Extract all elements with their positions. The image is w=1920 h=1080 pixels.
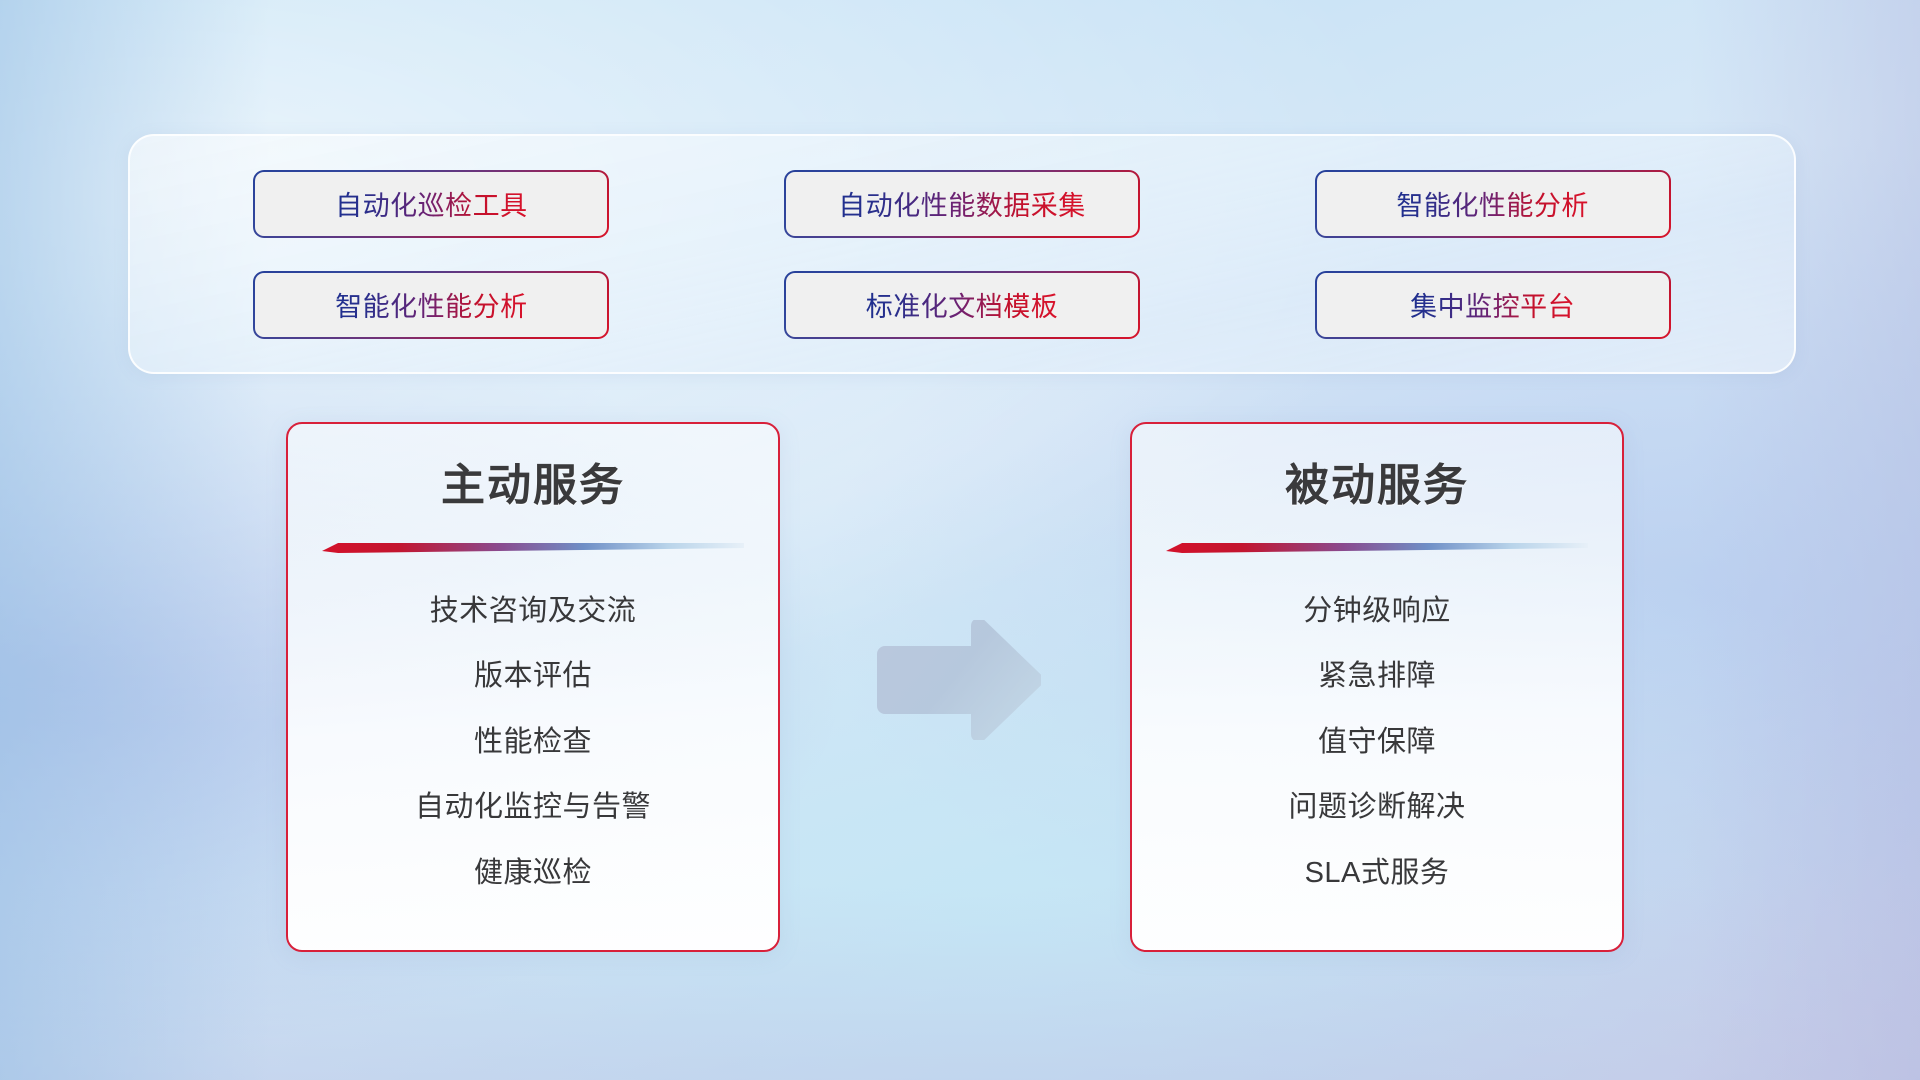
chip-cell: 自动化性能数据采集 (731, 164, 1194, 243)
card-item: 分钟级响应 (1303, 587, 1451, 629)
card-title-divider (322, 539, 744, 555)
capability-chip-4[interactable]: 智能化性能分析 (253, 271, 609, 339)
card-item: 值守保障 (1318, 718, 1436, 760)
chip-inner: 智能化性能分析 (255, 273, 607, 337)
capability-chip-6[interactable]: 集中监控平台 (1315, 271, 1671, 339)
capability-chip-2[interactable]: 自动化性能数据采集 (784, 170, 1140, 238)
service-card-passive[interactable]: 被动服务 分钟级响应 紧急排障 值守保障 (1130, 422, 1624, 952)
capabilities-chip-grid: 自动化巡检工具 自动化性能数据采集 智能化性能分析 (130, 136, 1794, 372)
chip-inner: 自动化巡检工具 (255, 172, 607, 236)
card-title: 主动服务 (322, 458, 744, 513)
chip-inner: 标准化文档模板 (786, 273, 1138, 337)
service-card-active[interactable]: 主动服务 技术咨询及交流 版本评估 性能检查 (286, 422, 780, 952)
right-arrow-icon (869, 620, 1041, 740)
card-item: 版本评估 (474, 652, 592, 694)
chip-cell: 自动化巡检工具 (200, 164, 663, 243)
capability-chip-label: 自动化巡检工具 (335, 184, 528, 223)
chip-inner: 集中监控平台 (1317, 273, 1669, 337)
card-item: 自动化监控与告警 (415, 783, 651, 825)
capability-chip-5[interactable]: 标准化文档模板 (784, 271, 1140, 339)
chip-inner: 自动化性能数据采集 (786, 172, 1138, 236)
card-item: 性能检查 (474, 718, 592, 760)
capability-chip-label: 智能化性能分析 (1396, 184, 1589, 223)
card-item: 技术咨询及交流 (430, 587, 637, 629)
capability-chip-label: 集中监控平台 (1410, 285, 1575, 324)
chip-cell: 智能化性能分析 (200, 265, 663, 344)
capability-chip-label: 自动化性能数据采集 (838, 184, 1086, 223)
card-item: 健康巡检 (474, 849, 592, 891)
card-item: 问题诊断解决 (1288, 783, 1465, 825)
capability-chip-label: 标准化文档模板 (866, 285, 1059, 324)
capability-chip-3[interactable]: 智能化性能分析 (1315, 170, 1671, 238)
chip-cell: 标准化文档模板 (731, 265, 1194, 344)
card-item: 紧急排障 (1318, 652, 1436, 694)
slide-canvas: 自动化巡检工具 自动化性能数据采集 智能化性能分析 (0, 0, 1920, 1080)
card-title: 被动服务 (1166, 458, 1588, 513)
card-title-divider (1166, 539, 1588, 555)
capability-chip-1[interactable]: 自动化巡检工具 (253, 170, 609, 238)
chip-inner: 智能化性能分析 (1317, 172, 1669, 236)
card-item-list: 技术咨询及交流 版本评估 性能检查 自动化监控与告警 健康巡检 (322, 555, 744, 920)
card-item: SLA式服务 (1305, 849, 1450, 891)
chip-cell: 智能化性能分析 (1261, 164, 1724, 243)
card-item-list: 分钟级响应 紧急排障 值守保障 问题诊断解决 SLA式服务 (1166, 555, 1588, 920)
capabilities-panel: 自动化巡检工具 自动化性能数据采集 智能化性能分析 (128, 134, 1796, 374)
capability-chip-label: 智能化性能分析 (335, 285, 528, 324)
chip-cell: 集中监控平台 (1261, 265, 1724, 344)
